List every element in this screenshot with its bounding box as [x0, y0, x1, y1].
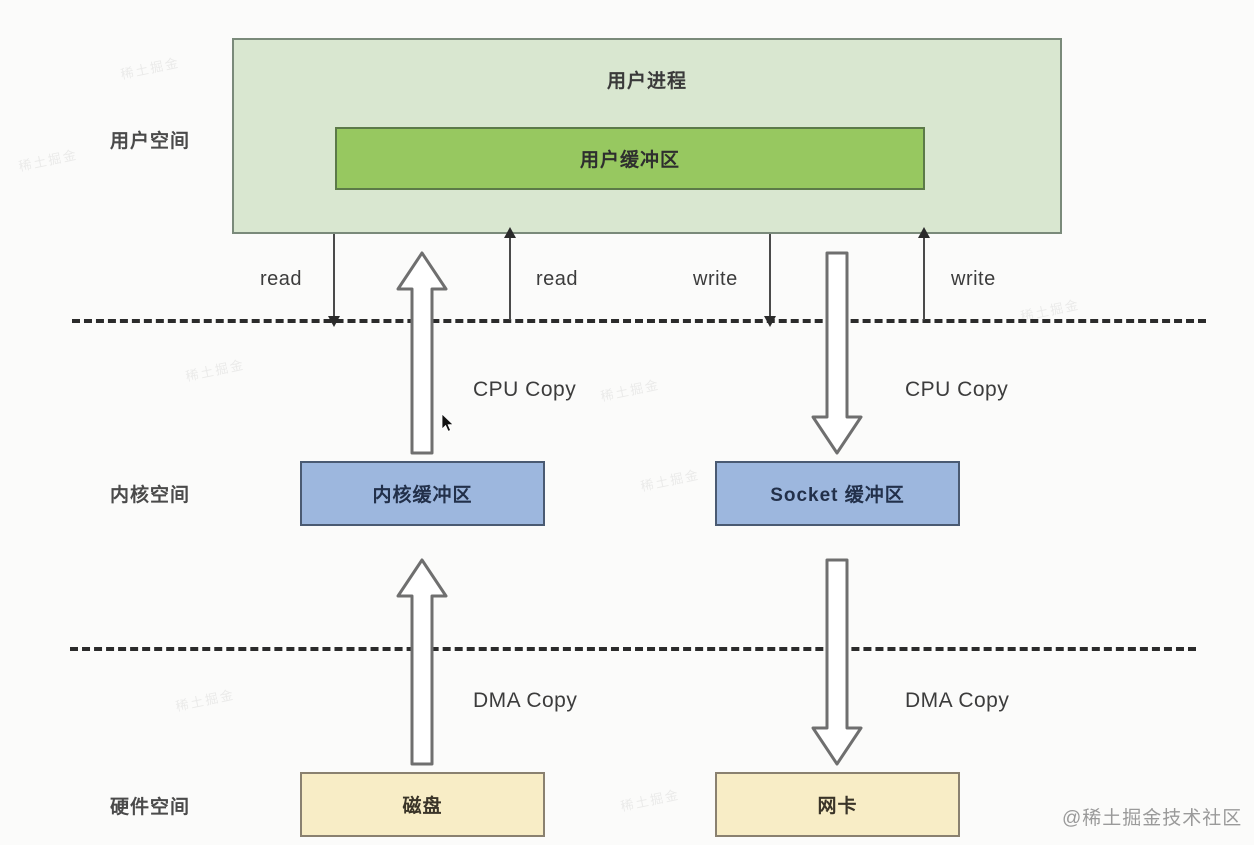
arrowhead-icon — [328, 316, 340, 327]
read-label-right: read — [536, 268, 578, 291]
arrowhead-icon — [764, 316, 776, 327]
background-watermark: 稀土掘金 — [619, 784, 682, 815]
kernel-buffer-box[interactable]: 内核缓冲区 — [300, 461, 545, 526]
read-label-left: read — [260, 268, 302, 291]
background-watermark: 稀土掘金 — [17, 144, 80, 175]
background-watermark: 稀土掘金 — [599, 374, 662, 405]
user-kernel-boundary — [72, 319, 1206, 323]
user-process-title: 用户进程 — [607, 66, 687, 93]
region-label-kernel-space: 内核空间 — [110, 480, 190, 507]
kernel-hardware-boundary — [70, 647, 1196, 651]
dma-copy-arrow-down-right — [810, 556, 864, 768]
nic-box[interactable]: 网卡 — [715, 772, 960, 837]
region-label-hardware-space: 硬件空间 — [110, 792, 190, 819]
dma-copy-label-right: DMA Copy — [905, 689, 1009, 713]
cpu-copy-label-right: CPU Copy — [905, 378, 1008, 402]
arrowhead-icon — [504, 227, 516, 238]
dma-copy-arrow-up-left — [395, 556, 449, 768]
arrowhead-icon — [918, 227, 930, 238]
region-label-user-space: 用户空间 — [110, 126, 190, 153]
background-watermark: 稀土掘金 — [119, 52, 182, 83]
community-watermark: @稀土掘金技术社区 — [1062, 803, 1242, 830]
dma-copy-label-left: DMA Copy — [473, 689, 577, 713]
cpu-copy-arrow-down-right — [810, 249, 864, 457]
user-buffer-label: 用户缓冲区 — [580, 145, 680, 172]
write-arrow-down-right — [769, 234, 771, 318]
user-buffer-box[interactable]: 用户缓冲区 — [335, 127, 925, 190]
background-watermark: 稀土掘金 — [174, 684, 237, 715]
disk-box[interactable]: 磁盘 — [300, 772, 545, 837]
socket-buffer-label: Socket 缓冲区 — [770, 480, 905, 507]
socket-buffer-box[interactable]: Socket 缓冲区 — [715, 461, 960, 526]
read-arrow-up-left — [509, 236, 511, 320]
write-label-right: write — [951, 268, 996, 291]
read-arrow-down-left — [333, 234, 335, 318]
disk-label: 磁盘 — [402, 791, 442, 818]
diagram-canvas: 稀土掘金 稀土掘金 稀土掘金 稀土掘金 稀土掘金 稀土掘金 稀土掘金 稀土掘金 … — [0, 0, 1254, 845]
background-watermark: 稀土掘金 — [184, 354, 247, 385]
cpu-copy-label-left: CPU Copy — [473, 378, 576, 402]
write-label-left: write — [693, 268, 738, 291]
nic-label: 网卡 — [817, 791, 857, 818]
background-watermark: 稀土掘金 — [639, 464, 702, 495]
cpu-copy-arrow-up-left — [395, 249, 449, 457]
kernel-buffer-label: 内核缓冲区 — [372, 480, 472, 507]
write-arrow-up-right — [923, 236, 925, 320]
